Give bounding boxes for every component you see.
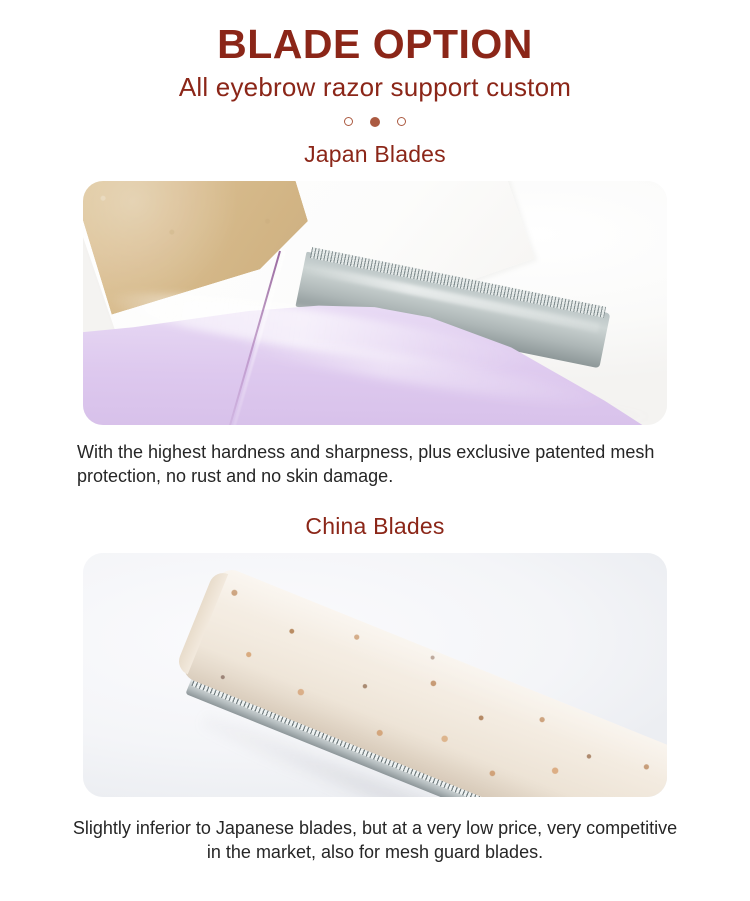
product-caption-japan-blades: With the highest hardness and sharpness,… — [69, 441, 681, 489]
pagination-dot-1[interactable] — [344, 117, 353, 126]
pagination-dot-2-active[interactable] — [370, 117, 380, 127]
product-image-china-blades — [83, 553, 667, 797]
section-heading-japan-blades: Japan Blades — [0, 141, 750, 168]
pagination-dots — [0, 115, 750, 129]
section-heading-china-blades: China Blades — [0, 513, 750, 540]
product-detail-page: BLADE OPTION All eyebrow razor support c… — [0, 0, 750, 901]
product-image-japan-blades — [83, 181, 667, 425]
page-subtitle: All eyebrow razor support custom — [0, 73, 750, 102]
product-caption-china-blades: Slightly inferior to Japanese blades, bu… — [65, 817, 685, 865]
pagination-dot-3[interactable] — [397, 117, 406, 126]
page-title: BLADE OPTION — [0, 22, 750, 66]
page-header: BLADE OPTION All eyebrow razor support c… — [0, 0, 750, 129]
